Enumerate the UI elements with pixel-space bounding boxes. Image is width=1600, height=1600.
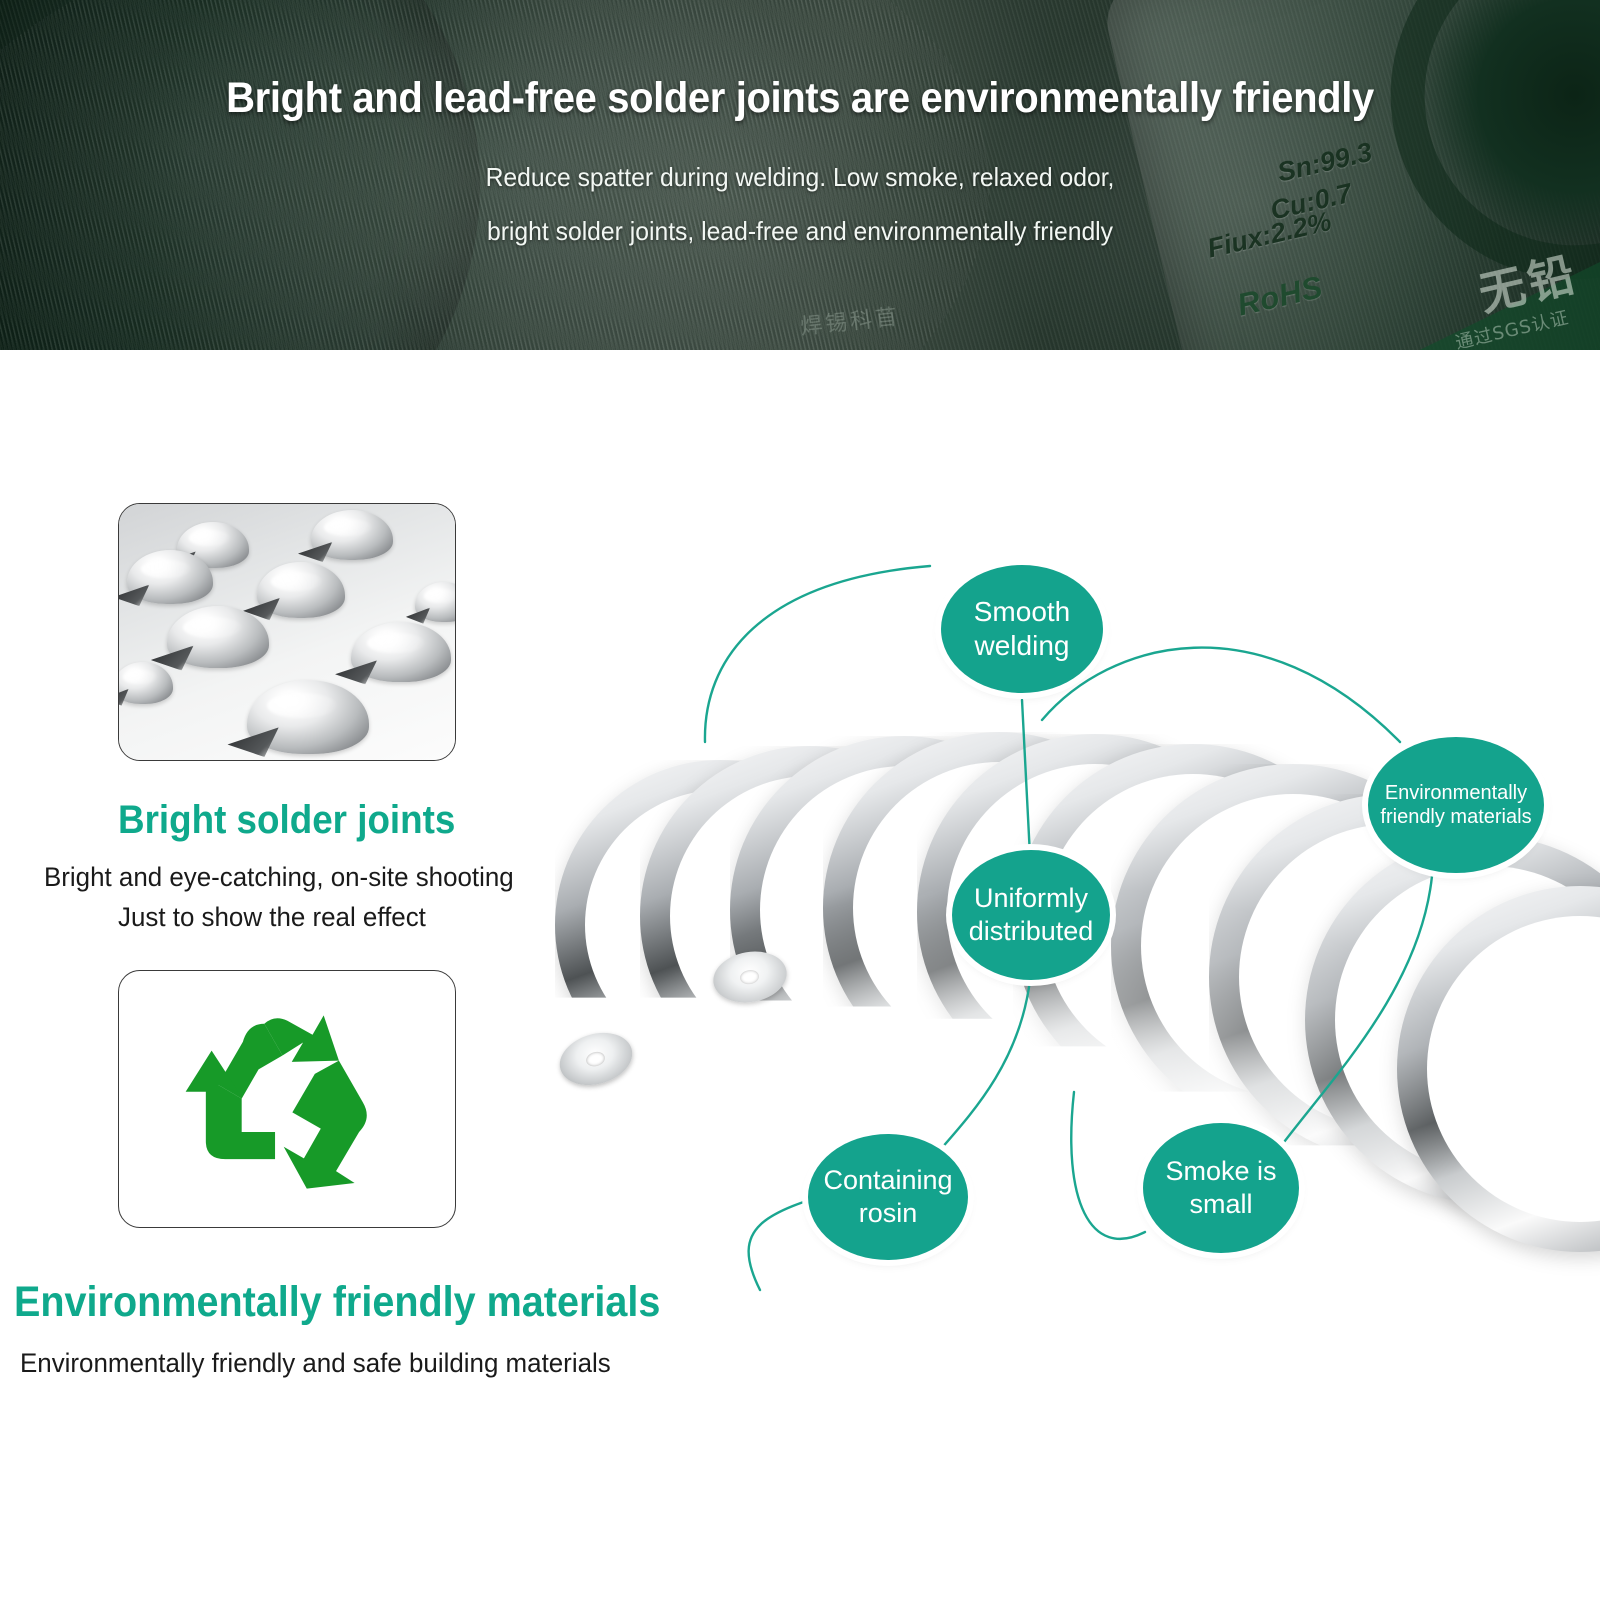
infographic-page: Sn:99.3 Cu:0.7 Fiux:2.2% RoHS 无铅 通过SGS认证… (0, 0, 1600, 1600)
environmentally-friendly-image-card (118, 970, 456, 1228)
banner-title: Bright and lead-free solder joints are e… (56, 74, 1544, 123)
callout-uniformly-distributed[interactable]: Uniformly distributed (952, 850, 1110, 980)
callout-label-line-2: welding (968, 629, 1077, 663)
callout-label-line-1: Smoke is (1159, 1155, 1282, 1188)
feature-desc-environmental-line-1: Environmentally friendly and safe buildi… (20, 1348, 611, 1379)
callout-label-line-2: small (1159, 1188, 1282, 1221)
callout-containing-rosin[interactable]: Containing rosin (808, 1134, 968, 1260)
feature-desc-bright-line-1: Bright and eye-catching, on-site shootin… (44, 862, 514, 893)
recycle-icon (181, 996, 393, 1202)
feature-title-bright-solder-joints: Bright solder joints (118, 798, 455, 843)
callout-label-line-1: Uniformly (963, 882, 1100, 915)
callout-label-line-1: Containing (817, 1164, 958, 1197)
callout-label-line-2: rosin (817, 1197, 958, 1230)
callout-label-line-1: Environmentally (1374, 781, 1537, 805)
callout-label-line-1: Smooth (968, 595, 1077, 629)
callout-label-line-2: distributed (963, 915, 1100, 948)
coil-tube-end (554, 1025, 639, 1093)
feature-desc-bright-line-2: Just to show the real effect (118, 902, 426, 933)
callout-label-line-2: friendly materials (1374, 805, 1537, 829)
banner-subtitle-line-1: Reduce spatter during welding. Low smoke… (40, 162, 1560, 193)
callout-smoke-is-small[interactable]: Smoke is small (1143, 1123, 1299, 1253)
callout-environmentally-friendly-materials[interactable]: Environmentally friendly materials (1368, 737, 1544, 873)
header-banner: Sn:99.3 Cu:0.7 Fiux:2.2% RoHS 无铅 通过SGS认证… (0, 0, 1600, 350)
bright-solder-joints-image-card (118, 503, 456, 761)
callout-smooth-welding[interactable]: Smooth welding (941, 565, 1103, 693)
banner-subtitle-line-2: bright solder joints, lead-free and envi… (40, 216, 1560, 247)
